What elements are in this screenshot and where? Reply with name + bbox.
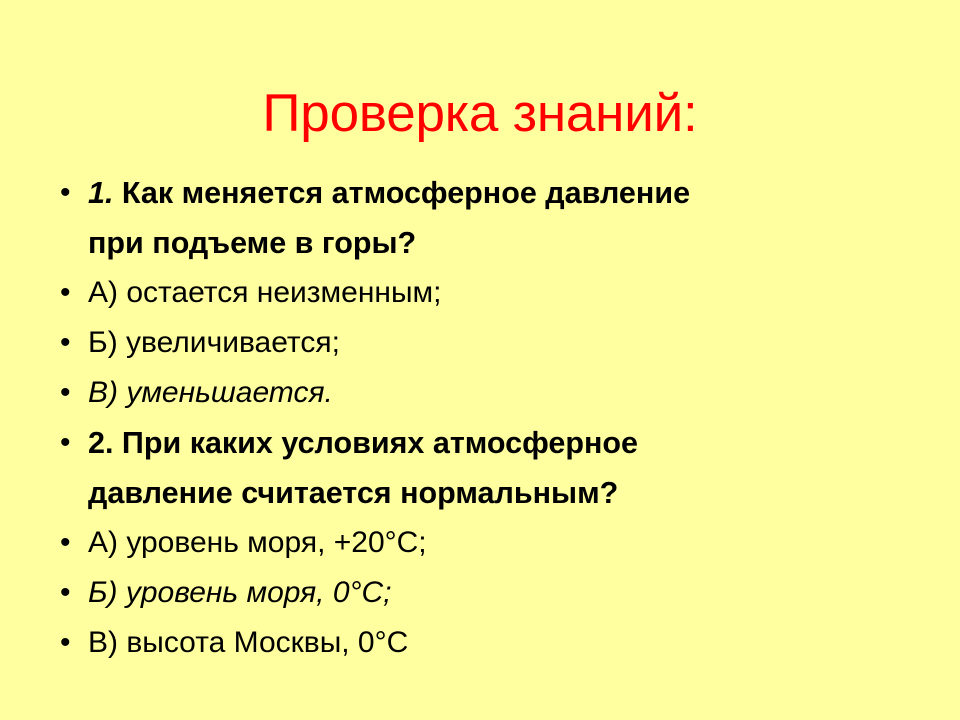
quiz-option: •В) высота Москвы, 0°С bbox=[52, 618, 932, 668]
quiz-text: 1. Как меняется атмосферное давлениепри … bbox=[88, 168, 932, 268]
quiz-option: •А) остается неизменным; bbox=[52, 268, 932, 318]
quiz-text: А) уровень моря, +20°С; bbox=[88, 518, 932, 568]
quiz-text: Б) увеличивается; bbox=[88, 318, 932, 368]
slide-canvas: Проверка знаний: •1. Как меняется атмосф… bbox=[0, 0, 960, 720]
quiz-option: •Б) уровень моря, 0°С; bbox=[52, 568, 932, 618]
question-number: 2. bbox=[88, 426, 113, 460]
bullet-icon: • bbox=[60, 518, 80, 568]
question-text: Как меняется атмосферное давление bbox=[113, 176, 690, 210]
text-line: 2. При каких условиях атмосферное bbox=[88, 418, 932, 468]
text-line: Б) увеличивается; bbox=[88, 318, 932, 368]
text-line: Б) уровень моря, 0°С; bbox=[88, 568, 932, 618]
bullet-icon: • bbox=[60, 168, 80, 218]
bullet-icon: • bbox=[60, 568, 80, 618]
quiz-option: •В) уменьшается. bbox=[52, 368, 932, 418]
question-text: При каких условиях атмосферное bbox=[113, 426, 638, 460]
bullet-icon: • bbox=[60, 318, 80, 368]
page-title: Проверка знаний: bbox=[0, 84, 960, 143]
text-line: В) уменьшается. bbox=[88, 368, 932, 418]
text-line: А) остается неизменным; bbox=[88, 268, 932, 318]
bullet-icon: • bbox=[60, 368, 80, 418]
quiz-text: В) уменьшается. bbox=[88, 368, 932, 418]
quiz-text: 2. При каких условиях атмосферноедавлени… bbox=[88, 418, 932, 518]
quiz-option: •Б) увеличивается; bbox=[52, 318, 932, 368]
text-line: В) высота Москвы, 0°С bbox=[88, 618, 932, 668]
bullet-icon: • bbox=[60, 418, 80, 468]
quiz-question: •2. При каких условиях атмосферноедавлен… bbox=[52, 418, 932, 518]
bullet-icon: • bbox=[60, 268, 80, 318]
quiz-list: •1. Как меняется атмосферное давлениепри… bbox=[52, 168, 932, 668]
text-line: А) уровень моря, +20°С; bbox=[88, 518, 932, 568]
text-line: при подъеме в горы? bbox=[88, 218, 932, 268]
quiz-text: А) остается неизменным; bbox=[88, 268, 932, 318]
bullet-icon: • bbox=[60, 618, 80, 668]
text-line: 1. Как меняется атмосферное давление bbox=[88, 168, 932, 218]
quiz-text: Б) уровень моря, 0°С; bbox=[88, 568, 932, 618]
question-number: 1. bbox=[88, 176, 113, 210]
quiz-question: •1. Как меняется атмосферное давлениепри… bbox=[52, 168, 932, 268]
quiz-text: В) высота Москвы, 0°С bbox=[88, 618, 932, 668]
quiz-option: •А) уровень моря, +20°С; bbox=[52, 518, 932, 568]
text-line: давление считается нормальным? bbox=[88, 468, 932, 518]
